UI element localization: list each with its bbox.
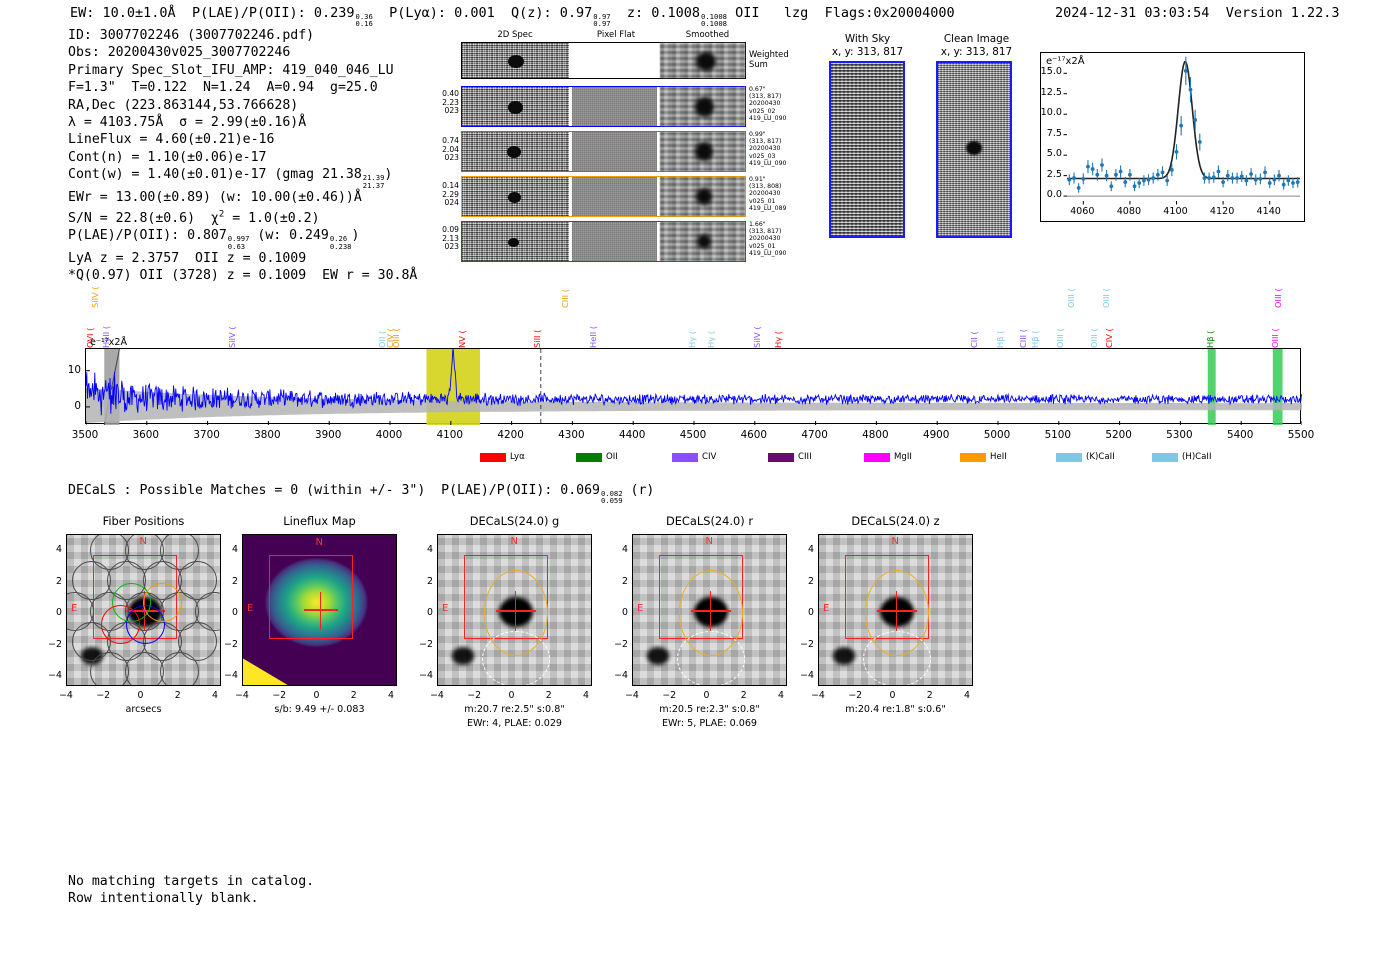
- secondary-blob: [452, 647, 474, 665]
- emission-label-6: OIII (: [391, 312, 401, 348]
- info-lambda-sigma: λ = 4103.75Å σ = 2.99(±0.16)Å: [68, 115, 306, 130]
- info-seeing: F=1.3" T=0.122 N=1.24 A=0.94 g=25.0: [68, 80, 378, 95]
- legend-item-Lyα: Lyα: [480, 452, 525, 462]
- header-qz-label: Q(z): 0.97: [511, 5, 592, 21]
- row-1-strip: [461, 131, 746, 172]
- header-plae-bounds: 0.360.16: [356, 13, 373, 28]
- col-title-smoothed: Smoothed: [663, 30, 752, 40]
- weighted-sum-strip: [461, 42, 746, 79]
- info-plae-bounds: 0.9970.63: [228, 235, 250, 250]
- twod-spectrum-panel: 2D Spec Pixel Flat Smoothed Weighted Sum…: [425, 30, 785, 255]
- cutout-decals-z-ytick-0: 4: [794, 544, 814, 555]
- compass-north: N: [316, 537, 323, 548]
- cutout-decals-g-ytick-0: 4: [413, 544, 433, 555]
- row-1-pixelflat-image: [572, 132, 656, 171]
- row-3-left-labels: 0.092.13023: [425, 226, 459, 252]
- cutout-fiber-positions-ytick-1: 2: [42, 576, 62, 587]
- emission-blob: [696, 52, 716, 71]
- cutout-decals-r-xtick-2: 0: [691, 690, 723, 701]
- spectrum-xtick-5400: 5400: [1215, 429, 1265, 441]
- info-id: ID: 3007702246 (3007702246.pdf): [68, 28, 314, 43]
- emission-label-14: Hγ (: [773, 312, 783, 348]
- compass-east: E: [442, 603, 448, 614]
- spectrum-ytick-0: 0: [55, 400, 81, 412]
- info-best-solution: *Q(0.97) OII (3728) z = 0.1009 EW r = 30…: [68, 268, 417, 283]
- legend-item-MgII: MgII: [864, 452, 912, 462]
- cutout-decals-g-xtick-3: 2: [533, 690, 565, 701]
- info-continuum-narrow: Cont(n) = 1.10(±0.06)e-17: [68, 150, 267, 165]
- spectrum-xtick-5200: 5200: [1094, 429, 1144, 441]
- emission-label-7: CIII (: [560, 274, 570, 308]
- legend-label-CIV: CIV: [702, 452, 716, 462]
- cutout-decals-r-ytick-1: 2: [608, 576, 628, 587]
- compass-north: N: [892, 536, 899, 547]
- spectrum-xtick-3600: 3600: [121, 429, 171, 441]
- row-3-2dspec-image: [462, 222, 569, 261]
- cutout-decals-z-xtick-4: 4: [951, 690, 983, 701]
- target-marker: ✕: [142, 608, 148, 614]
- cutout-decals-g-ytick-4: −4: [413, 670, 433, 681]
- row-0-2dspec-image: [462, 87, 569, 126]
- cutout-decals-r-xtick-3: 2: [728, 690, 760, 701]
- spectrum-xtick-4800: 4800: [850, 429, 900, 441]
- line-fit-xtick-4140: 4140: [1251, 206, 1287, 217]
- info-primary-spec: Primary Spec_Slot_IFU_AMP: 419_040_046_L…: [68, 63, 394, 78]
- spectrum-xtick-5300: 5300: [1154, 429, 1204, 441]
- emission-label-10: HeII (: [588, 312, 598, 348]
- col-title-pixelflat: Pixel Flat: [572, 30, 660, 40]
- cutout-decals-g-xtick-0: −4: [421, 690, 453, 701]
- compass-north: N: [511, 536, 518, 547]
- spectrum-xtick-4600: 4600: [729, 429, 779, 441]
- cutout-decals-r-xtick-1: −2: [653, 690, 685, 701]
- cutout-lineflux-map-ytick-3: −2: [218, 639, 238, 650]
- cutout-image-fiber-positions: NE✕: [66, 534, 221, 686]
- emission-blob: [508, 101, 523, 114]
- header-flags: Flags:0x20004000: [825, 5, 955, 21]
- line-fit-ytick-3: 7.5: [1034, 128, 1062, 139]
- fiber-circle: [90, 652, 129, 686]
- cutout-lineflux-map-xtick-0: −4: [226, 690, 258, 701]
- compass-north: N: [706, 536, 713, 547]
- spectrum-xtick-4300: 4300: [546, 429, 596, 441]
- spectrum-xtick-4100: 4100: [425, 429, 475, 441]
- cutout-decals-g-ytick-2: 0: [413, 607, 433, 618]
- emission-label-17: CIII (: [1018, 312, 1028, 348]
- cutout-decals-g-xtick-2: 0: [496, 690, 528, 701]
- cutout-lineflux-map-ytick-0: 4: [218, 544, 238, 555]
- row-2-smoothed-image: [660, 177, 745, 216]
- cutout-lineflux-map-xtick-3: 2: [338, 690, 370, 701]
- compass-east: E: [247, 603, 253, 614]
- legend-label-OII: OII: [606, 452, 618, 462]
- header-z-label: z: 0.1008: [627, 5, 700, 21]
- cutout-fiber-positions-ytick-2: 0: [42, 607, 62, 618]
- source-info-block: ID: 3007702246 (3007702246.pdf) Obs: 202…: [68, 27, 417, 285]
- legend-swatch-(H)CaII: [1152, 453, 1178, 462]
- cutout-caption1-decals-z: m:20.4 re:1.8" s:0.6": [783, 704, 1008, 715]
- info-lineflux: LineFlux = 4.60(±0.21)e-16: [68, 132, 274, 147]
- emission-blob: [507, 146, 521, 158]
- cutout-decals-z-xtick-2: 0: [877, 690, 909, 701]
- row-0-left-labels: 0.402.23023: [425, 90, 459, 116]
- cutout-lineflux-map-ytick-2: 0: [218, 607, 238, 618]
- row-2-pixelflat-image: [572, 177, 656, 216]
- compass-east: E: [823, 603, 829, 614]
- emission-label-20: OIII (: [1066, 274, 1076, 308]
- spectrum-xtick-4200: 4200: [486, 429, 536, 441]
- spectrum-ytick-10: 10: [55, 364, 81, 376]
- aperture-box: [269, 555, 353, 639]
- legend-label-MgII: MgII: [894, 452, 912, 462]
- legend-label-HeII: HeII: [990, 452, 1007, 462]
- line-fit-plot: e⁻¹⁷x2Å: [1040, 52, 1305, 222]
- emission-label-23: CIV (: [1104, 312, 1114, 348]
- header-z-bounds: 0.10080.1008: [701, 13, 727, 28]
- legend-label-CIII: CIII: [798, 452, 812, 462]
- emission-label-9: SiII (: [532, 312, 542, 348]
- crosshair-vertical: [320, 592, 322, 630]
- bottom-note-line2: Row intentionally blank.: [68, 891, 259, 906]
- legend-item-OII: OII: [576, 452, 618, 462]
- header-plya: P(Lyα): 0.001: [389, 5, 495, 21]
- cutout-fiber-positions-xtick-3: 2: [162, 690, 194, 701]
- line-fit-ytick-5: 12.5: [1034, 87, 1062, 98]
- info-continuum-wide-end: ): [384, 167, 392, 182]
- info-obs: Obs: 20200430v025_3007702246: [68, 45, 290, 60]
- decals-summary-line: DECaLS : Possible Matches = 0 (within +/…: [68, 483, 654, 505]
- cutout-decals-r-xtick-4: 4: [765, 690, 797, 701]
- emission-label-18: Hβ (: [1030, 312, 1040, 348]
- cutout-image-lineflux-map: NE: [242, 534, 397, 686]
- cutout-lineflux-map-xtick-1: −2: [263, 690, 295, 701]
- cutout-title-lineflux-map: Lineflux Map: [207, 514, 432, 528]
- full-spectrum-units-label: e⁻¹⁷x2Å: [90, 337, 127, 348]
- cutout-fiber-positions-ytick-4: −4: [42, 670, 62, 681]
- with-sky-image: [829, 61, 905, 238]
- row-2-strip: [461, 176, 746, 217]
- legend-label-(K)CaII: (K)CaII: [1086, 452, 1115, 462]
- cutout-caption1-decals-g: m:20.7 re:2.5" s:0.8": [402, 704, 627, 715]
- dashed-aperture: [863, 631, 931, 686]
- cutout-fiber-positions-ytick-0: 4: [42, 544, 62, 555]
- row-0-right-labels: 0.67"(313, 817) 20200430v025_02 419_LU_0…: [749, 86, 809, 122]
- cutout-decals-r-ytick-3: −2: [608, 639, 628, 650]
- emission-label-8: NV (: [457, 312, 467, 348]
- spectrum-xtick-3500: 3500: [60, 429, 110, 441]
- cutout-lineflux-map-ytick-4: −4: [218, 670, 238, 681]
- info-plae-post: ): [352, 228, 360, 243]
- emission-blob: [508, 238, 519, 247]
- with-sky-title: With Sky x, y: 313, 817: [820, 33, 915, 58]
- weighted-sum-label: Weighted Sum: [749, 50, 789, 69]
- spectrum-xtick-4000: 4000: [364, 429, 414, 441]
- row-3-strip: [461, 221, 746, 262]
- legend-item-(K)CaII: (K)CaII: [1056, 452, 1115, 462]
- decals-plae-bounds: 0.0820.059: [601, 490, 623, 505]
- info-redshifts: LyA z = 2.3757 OII z = 0.1009: [68, 251, 306, 266]
- legend-label-Lyα: Lyα: [510, 452, 525, 462]
- spectrum-xtick-4400: 4400: [607, 429, 657, 441]
- fiber-circle: [160, 652, 199, 686]
- cutout-fiber-positions-xtick-2: 0: [125, 690, 157, 701]
- row-1-smoothed-image: [660, 132, 745, 171]
- cutout-caption1-lineflux-map: s/b: 9.49 +/- 0.083: [207, 704, 432, 715]
- weighted-sum-2dspec-image: [462, 43, 569, 78]
- cutout-image-decals-r: NE: [632, 534, 787, 686]
- line-fit-svg: [1041, 53, 1306, 223]
- info-ewr: EWr = 13.00(±0.89) (w: 10.00(±0.46))Å: [68, 190, 362, 205]
- info-plae-mid: (w: 0.249: [257, 228, 328, 243]
- line-fit-ytick-6: 15.0: [1034, 66, 1062, 77]
- info-radec: RA,Dec (223.863144,53.766628): [68, 98, 298, 113]
- emission-label-24: Hβ (: [1205, 312, 1215, 348]
- emission-blob: [696, 188, 712, 205]
- spectrum-xtick-3700: 3700: [182, 429, 232, 441]
- legend-item-(H)CaII: (H)CaII: [1152, 452, 1212, 462]
- cutout-title-decals-z: DECaLS(24.0) z: [783, 514, 1008, 528]
- header-datetime: 2024-12-31 03:03:54: [1055, 5, 1209, 21]
- legend-swatch-CIII: [768, 453, 794, 462]
- emission-blob: [508, 192, 521, 203]
- emission-blob: [695, 97, 714, 117]
- emission-label-13: SiIV (: [752, 312, 762, 348]
- cutout-lineflux-map-xtick-4: 4: [375, 690, 407, 701]
- bottom-note-line1: No matching targets in catalog.: [68, 874, 314, 889]
- spectrum-xtick-5000: 5000: [972, 429, 1022, 441]
- fiber-circle-highlight-2: [143, 583, 182, 622]
- cutout-decals-g-ytick-3: −2: [413, 639, 433, 650]
- cutout-lineflux-map-xtick-2: 0: [301, 690, 333, 701]
- secondary-blob: [647, 647, 669, 665]
- col-title-2dspec: 2D Spec: [461, 30, 569, 40]
- emission-label-0: SiIV (: [90, 274, 100, 308]
- header-timestamp-version: 2024-12-31 03:03:54 Version 1.22.3: [1055, 5, 1340, 21]
- row-2-right-labels: 0.91"(313, 808) 20200430v025_01 419_LU_0…: [749, 176, 809, 212]
- emission-label-15: CII (: [969, 312, 979, 348]
- emission-label-3: SiIV (: [227, 312, 237, 348]
- row-0-pixelflat-image: [572, 87, 656, 126]
- row-2-left-labels: 0.142.29024: [425, 182, 459, 208]
- legend-item-HeII: HeII: [960, 452, 1007, 462]
- header-version: Version 1.22.3: [1226, 5, 1340, 21]
- cutout-fiber-positions-xtick-1: −2: [87, 690, 119, 701]
- cutout-decals-z-xtick-0: −4: [802, 690, 834, 701]
- legend-swatch-CIV: [672, 453, 698, 462]
- cutout-texture-decals-g: NE: [438, 535, 591, 685]
- line-fit-ytick-2: 5.0: [1034, 148, 1062, 159]
- cutout-decals-z-ytick-3: −2: [794, 639, 814, 650]
- weighted-sum-smoothed-image: [660, 43, 745, 78]
- secondary-blob: [833, 647, 855, 665]
- legend-swatch-HeII: [960, 453, 986, 462]
- info-gmag-bounds: 21.3921.37: [363, 174, 385, 189]
- emission-blob: [508, 55, 524, 68]
- info-continuum-wide: Cont(w) = 1.40(±0.01)e-17 (gmag 21.38: [68, 167, 362, 182]
- spectrum-xtick-5100: 5100: [1033, 429, 1083, 441]
- legend-item-CIII: CIII: [768, 452, 812, 462]
- row-1-left-labels: 0.742.04023: [425, 137, 459, 163]
- cutout-decals-g-xtick-1: −2: [458, 690, 490, 701]
- header-summary-line: EW: 10.0±1.0Å P(LAE)/P(OII): 0.2390.360.…: [70, 5, 955, 28]
- legend-swatch-OII: [576, 453, 602, 462]
- row-0-smoothed-image: [660, 87, 745, 126]
- cutout-decals-z-xtick-1: −2: [839, 690, 871, 701]
- info-plae-w-bounds: 0.260.238: [330, 235, 352, 250]
- spectrum-xtick-3900: 3900: [303, 429, 353, 441]
- info-plae-pre: P(LAE)/P(OII): 0.807: [68, 228, 227, 243]
- header-qz-bounds: 0.970.97: [593, 13, 610, 28]
- info-snr-chi2: S/N = 22.8(±0.6) χ2 = 1.0(±0.2): [68, 211, 320, 226]
- legend-swatch-Lyα: [480, 453, 506, 462]
- spectrum-xtick-4500: 4500: [668, 429, 718, 441]
- cutout-image-decals-g: NE: [437, 534, 592, 686]
- row-2-2dspec-image: [462, 177, 569, 216]
- full-spectrum-svg: [86, 349, 1302, 425]
- line-fit-xtick-4080: 4080: [1111, 206, 1147, 217]
- spectrum-xtick-5500: 5500: [1276, 429, 1326, 441]
- emission-label-26: OIII (: [1273, 274, 1283, 308]
- clean-image-title: Clean Image x, y: 313, 817: [924, 33, 1029, 58]
- cutout-image-decals-z: NE: [818, 534, 973, 686]
- decals-line-pre: DECaLS : Possible Matches = 0 (within +/…: [68, 483, 600, 498]
- line-fit-ytick-0: 0.0: [1034, 189, 1062, 200]
- row-1-right-labels: 0.99"(313, 817) 20200430v025_03 419_LU_0…: [749, 131, 809, 167]
- cutout-decals-r-ytick-2: 0: [608, 607, 628, 618]
- emission-label-16: Hβ (: [995, 312, 1005, 348]
- lineflux-wedge: [243, 651, 315, 685]
- cutout-texture-decals-z: NE: [819, 535, 972, 685]
- cutout-decals-r-ytick-0: 4: [608, 544, 628, 555]
- cutout-caption2-decals-g: EWr: 4, PLAE: 0.029: [402, 718, 627, 729]
- bottom-note: No matching targets in catalog. Row inte…: [68, 873, 314, 908]
- emission-label-11: Hγ (: [687, 312, 697, 348]
- cutout-caption2-decals-r: EWr: 5, PLAE: 0.069: [597, 718, 822, 729]
- fiber-circle-highlight-3: [101, 605, 140, 644]
- spectrum-xtick-4900: 4900: [911, 429, 961, 441]
- row-0-strip: [461, 86, 746, 127]
- emission-label-22: OIII (: [1101, 274, 1111, 308]
- full-spectrum-plot: e⁻¹⁷x2Å: [85, 348, 1301, 424]
- legend-swatch-MgII: [864, 453, 890, 462]
- row-1-2dspec-image: [462, 132, 569, 171]
- fiber-circle: [125, 652, 164, 686]
- emission-label-19: OIII (: [1055, 312, 1065, 348]
- cutout-title-decals-g: DECaLS(24.0) g: [402, 514, 627, 528]
- spectrum-xtick-3800: 3800: [242, 429, 292, 441]
- cutout-fiber-positions-xtick-0: −4: [50, 690, 82, 701]
- emission-blob: [966, 141, 982, 155]
- line-fit-ytick-4: 10.0: [1034, 107, 1062, 118]
- line-fit-xtick-4060: 4060: [1064, 206, 1100, 217]
- cutout-decals-r-ytick-4: −4: [608, 670, 628, 681]
- line-fit-xtick-4120: 4120: [1204, 206, 1240, 217]
- cutout-texture-fiber-positions: NE✕: [67, 535, 220, 685]
- emission-label-21: OIII (: [1089, 312, 1099, 348]
- header-lzg: lzg: [784, 5, 808, 21]
- weighted-sum-pixelflat-image: [572, 43, 656, 78]
- cutout-decals-z-xtick-3: 2: [914, 690, 946, 701]
- cutout-decals-g-ytick-1: 2: [413, 576, 433, 587]
- row-3-right-labels: 1.66"(313, 817) 20200430v025_01 419_LU_0…: [749, 221, 809, 257]
- dashed-aperture: [677, 631, 745, 686]
- cutout-decals-z-ytick-1: 2: [794, 576, 814, 587]
- cutout-fiber-positions-ytick-3: −2: [42, 639, 62, 650]
- legend-label-(H)CaII: (H)CaII: [1182, 452, 1212, 462]
- clean-image-image: [936, 61, 1012, 238]
- line-fit-ytick-1: 2.5: [1034, 169, 1062, 180]
- row-3-pixelflat-image: [572, 222, 656, 261]
- emission-blob: [697, 234, 711, 249]
- row-3-smoothed-image: [660, 222, 745, 261]
- cutout-decals-g-xtick-4: 4: [570, 690, 602, 701]
- header-classification: OII: [735, 5, 759, 21]
- emission-label-25: OIII (: [1270, 312, 1280, 348]
- cutout-decals-z-ytick-4: −4: [794, 670, 814, 681]
- spectrum-xtick-4700: 4700: [790, 429, 840, 441]
- legend-swatch-(K)CaII: [1056, 453, 1082, 462]
- cutout-texture-decals-r: NE: [633, 535, 786, 685]
- emission-label-12: Hγ (: [706, 312, 716, 348]
- header-plae-label: P(LAE)/P(OII): 0.239: [192, 5, 355, 21]
- dashed-aperture: [482, 631, 550, 686]
- cutout-decals-z-ytick-2: 0: [794, 607, 814, 618]
- legend-item-CIV: CIV: [672, 452, 716, 462]
- cutout-decals-r-xtick-0: −4: [616, 690, 648, 701]
- header-ew: EW: 10.0±1.0Å: [70, 5, 176, 21]
- decals-line-post: (r): [631, 483, 655, 498]
- compass-east: E: [637, 603, 643, 614]
- line-fit-xtick-4100: 4100: [1158, 206, 1194, 217]
- emission-blob: [695, 142, 713, 161]
- cutout-lineflux-map-ytick-1: 2: [218, 576, 238, 587]
